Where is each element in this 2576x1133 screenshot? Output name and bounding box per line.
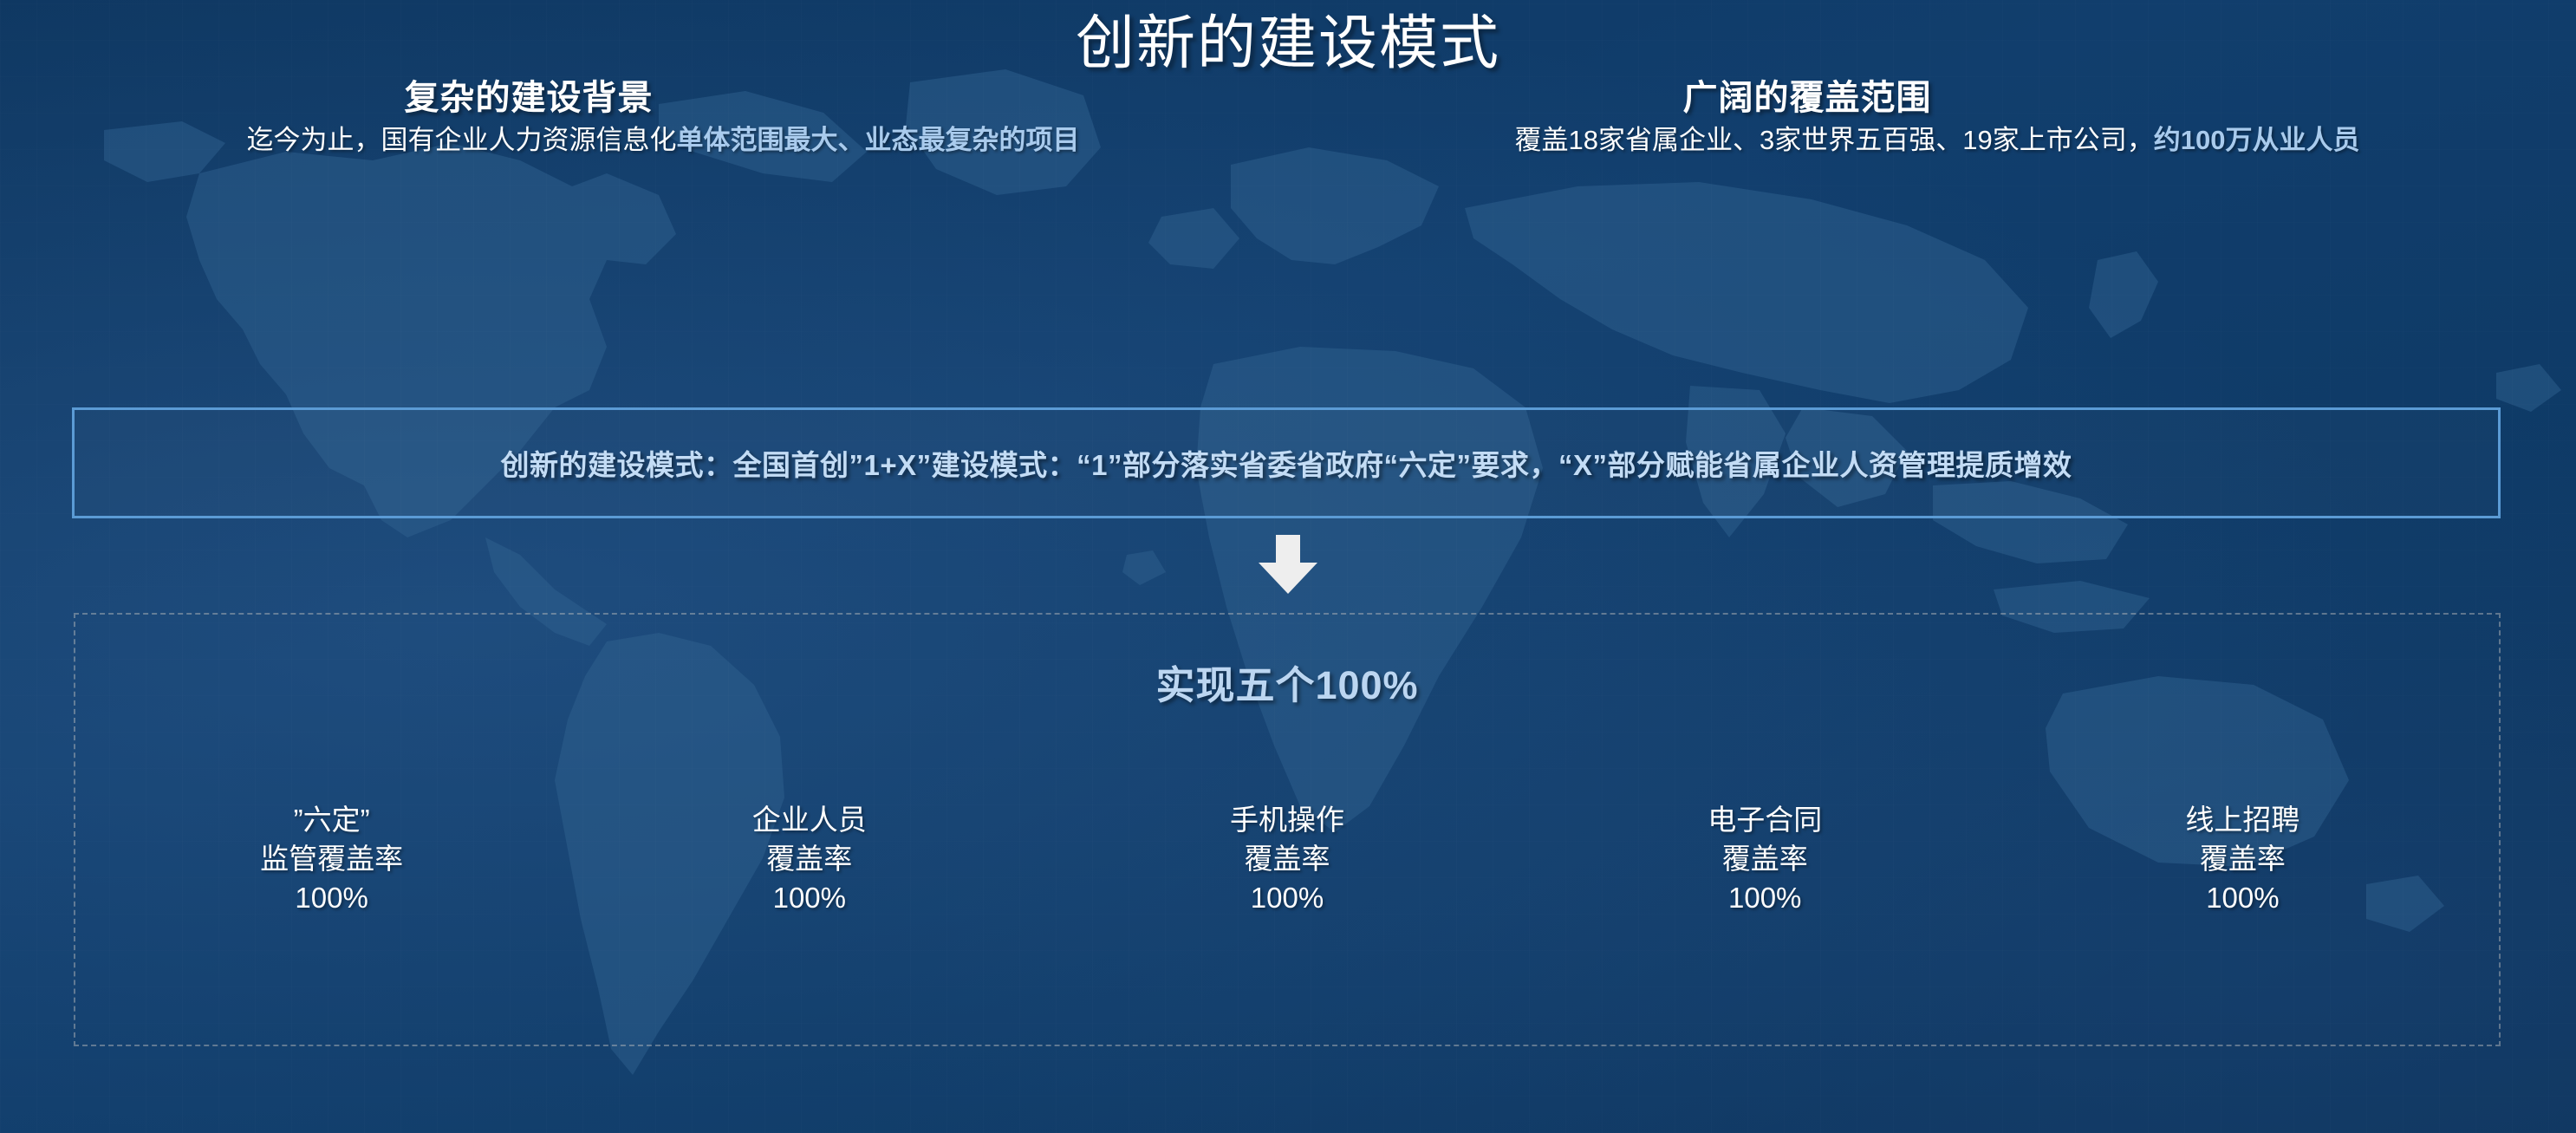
innovation-mode-banner: 创新的建设模式：全国首创”1+X”建设模式：“1”部分落实省委省政府“六定”要求… (72, 407, 2501, 518)
left-column-body: 迄今为止，国有企业人力资源信息化单体范围最大、业态最复杂的项目 (69, 121, 1257, 160)
metric-item: 手机操作 覆盖率 100% (1048, 801, 1525, 918)
metric-item: ”六定” 监管覆盖率 100% (93, 801, 570, 918)
metric-label-line2: 覆盖率 (2004, 840, 2482, 879)
metric-label-line1: 手机操作 (1048, 801, 1525, 840)
metric-label-line1: 企业人员 (570, 801, 1048, 840)
metric-label-line2: 覆盖率 (1526, 840, 2004, 879)
metric-value: 100% (93, 879, 570, 918)
metric-label-line2: 覆盖率 (1048, 840, 1525, 879)
right-column-body: 覆盖18家省属企业、3家世界五百强、19家上市公司，约100万从业人员 (1339, 121, 2535, 160)
left-body-plain: 迄今为止，国有企业人力资源信息化 (247, 125, 677, 155)
banner-text: 创新的建设模式：全国首创”1+X”建设模式：“1”部分落实省委省政府“六定”要求… (501, 442, 2072, 484)
metric-item: 电子合同 覆盖率 100% (1526, 801, 2004, 918)
metric-value: 100% (2004, 879, 2482, 918)
metric-label-line1: ”六定” (93, 801, 570, 840)
left-column-heading: 复杂的建设背景 (251, 69, 806, 120)
metric-label-line2: 覆盖率 (570, 840, 1048, 879)
metric-item: 线上招聘 覆盖率 100% (2004, 801, 2482, 918)
metric-value: 100% (1048, 879, 1525, 918)
panel-title: 实现五个100% (75, 654, 2499, 710)
metric-item: 企业人员 覆盖率 100% (570, 801, 1048, 918)
arrow-down-icon (1253, 535, 1323, 594)
right-body-highlight: 约100万从业人员 (2154, 125, 2360, 155)
metric-value: 100% (1526, 879, 2004, 918)
slide-canvas: 创新的建设模式 复杂的建设背景 迄今为止，国有企业人力资源信息化单体范围最大、业… (0, 0, 2576, 1133)
right-body-plain: 覆盖18家省属企业、3家世界五百强、19家上市公司， (1515, 125, 2154, 155)
right-column-heading: 广阔的覆盖范围 (1530, 69, 2085, 120)
metrics-row: ”六定” 监管覆盖率 100% 企业人员 覆盖率 100% 手机操作 覆盖率 1… (75, 801, 2499, 918)
metric-label-line1: 电子合同 (1526, 801, 2004, 840)
metric-value: 100% (570, 879, 1048, 918)
metric-label-line2: 监管覆盖率 (93, 840, 570, 879)
results-panel: 实现五个100% ”六定” 监管覆盖率 100% 企业人员 覆盖率 100% 手… (74, 613, 2501, 1046)
metric-label-line1: 线上招聘 (2004, 801, 2482, 840)
left-body-highlight: 单体范围最大、业态最复杂的项目 (677, 125, 1080, 155)
